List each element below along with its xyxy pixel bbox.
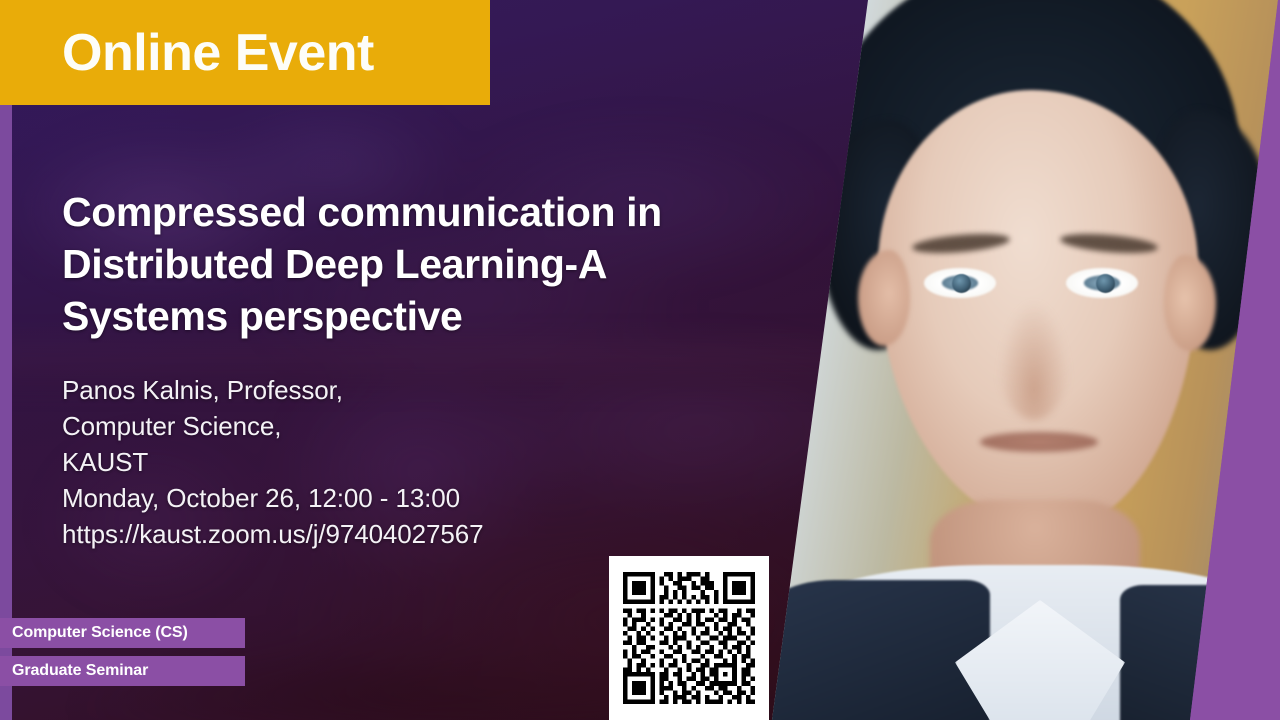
portrait-mouth	[980, 432, 1098, 452]
title-line-3: Systems perspective	[62, 293, 462, 339]
online-event-label: Online Event	[0, 27, 374, 79]
online-event-banner: Online Event	[0, 0, 490, 105]
event-datetime: Monday, October 26, 12:00 - 13:00	[62, 480, 762, 516]
qr-code-card[interactable]	[609, 556, 769, 720]
qr-code-icon[interactable]	[623, 572, 755, 704]
portrait-jacket-left	[760, 580, 990, 720]
speaker-institution: KAUST	[62, 444, 762, 480]
portrait-nose	[998, 300, 1070, 420]
event-zoom-link[interactable]: https://kaust.zoom.us/j/97404027567	[62, 516, 762, 552]
event-details: Compressed communication in Distributed …	[62, 186, 762, 552]
page-title: Compressed communication in Distributed …	[62, 186, 762, 342]
portrait-pupil-right	[1096, 274, 1115, 293]
portrait-ear-left	[858, 250, 910, 346]
title-line-1: Compressed communication in	[62, 189, 662, 235]
status-badge-series: Graduate Seminar	[0, 656, 245, 686]
badge-label-department: Computer Science (CS)	[12, 624, 188, 642]
title-line-2: Distributed Deep Learning-A	[62, 241, 607, 287]
category-badges: Computer Science (CS) Graduate Seminar	[0, 618, 245, 686]
speaker-info: Panos Kalnis, Professor, Computer Scienc…	[62, 372, 762, 552]
event-poster: Online Event Compressed communication in…	[0, 0, 1280, 720]
speaker-department: Computer Science,	[62, 408, 762, 444]
badge-label-series: Graduate Seminar	[12, 662, 148, 680]
status-badge-department: Computer Science (CS)	[0, 618, 245, 648]
speaker-name: Panos Kalnis, Professor,	[62, 372, 762, 408]
portrait-pupil-left	[952, 274, 971, 293]
